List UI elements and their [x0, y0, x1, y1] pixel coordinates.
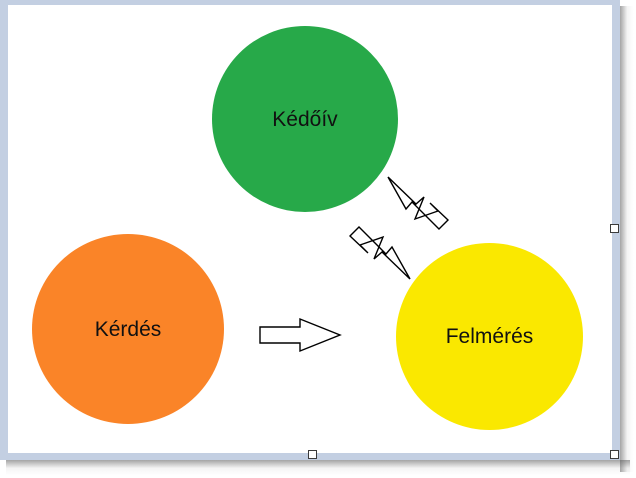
slide-editor: Kédőív Kérdés Felmérés [0, 0, 636, 478]
slide-resize-handle-bottom-center[interactable] [308, 450, 317, 459]
shape-ellipse-felmeres[interactable]: Felmérés [396, 243, 583, 430]
slide-shadow-right [620, 6, 636, 472]
slide-resize-handle-middle-right[interactable] [610, 224, 619, 233]
slide-resize-handle-bottom-right[interactable] [610, 450, 619, 459]
shape-label-kerdes: Kérdés [95, 319, 162, 340]
slide-shadow-bottom [6, 460, 630, 478]
connector-bent-arrow-felmeres-to-kedoiv[interactable] [388, 177, 448, 229]
connector-right-arrow-kerdes-to-felmeres[interactable] [260, 319, 340, 351]
shape-label-kedoiv: Kédőív [272, 109, 337, 130]
slide-canvas[interactable]: Kédőív Kérdés Felmérés [8, 5, 612, 453]
shape-ellipse-kedoiv[interactable]: Kédőív [212, 26, 398, 212]
connector-bent-arrow-kedoiv-to-felmeres[interactable] [350, 227, 410, 279]
shape-label-felmeres: Felmérés [446, 326, 534, 347]
shape-ellipse-kerdes[interactable]: Kérdés [32, 234, 224, 424]
